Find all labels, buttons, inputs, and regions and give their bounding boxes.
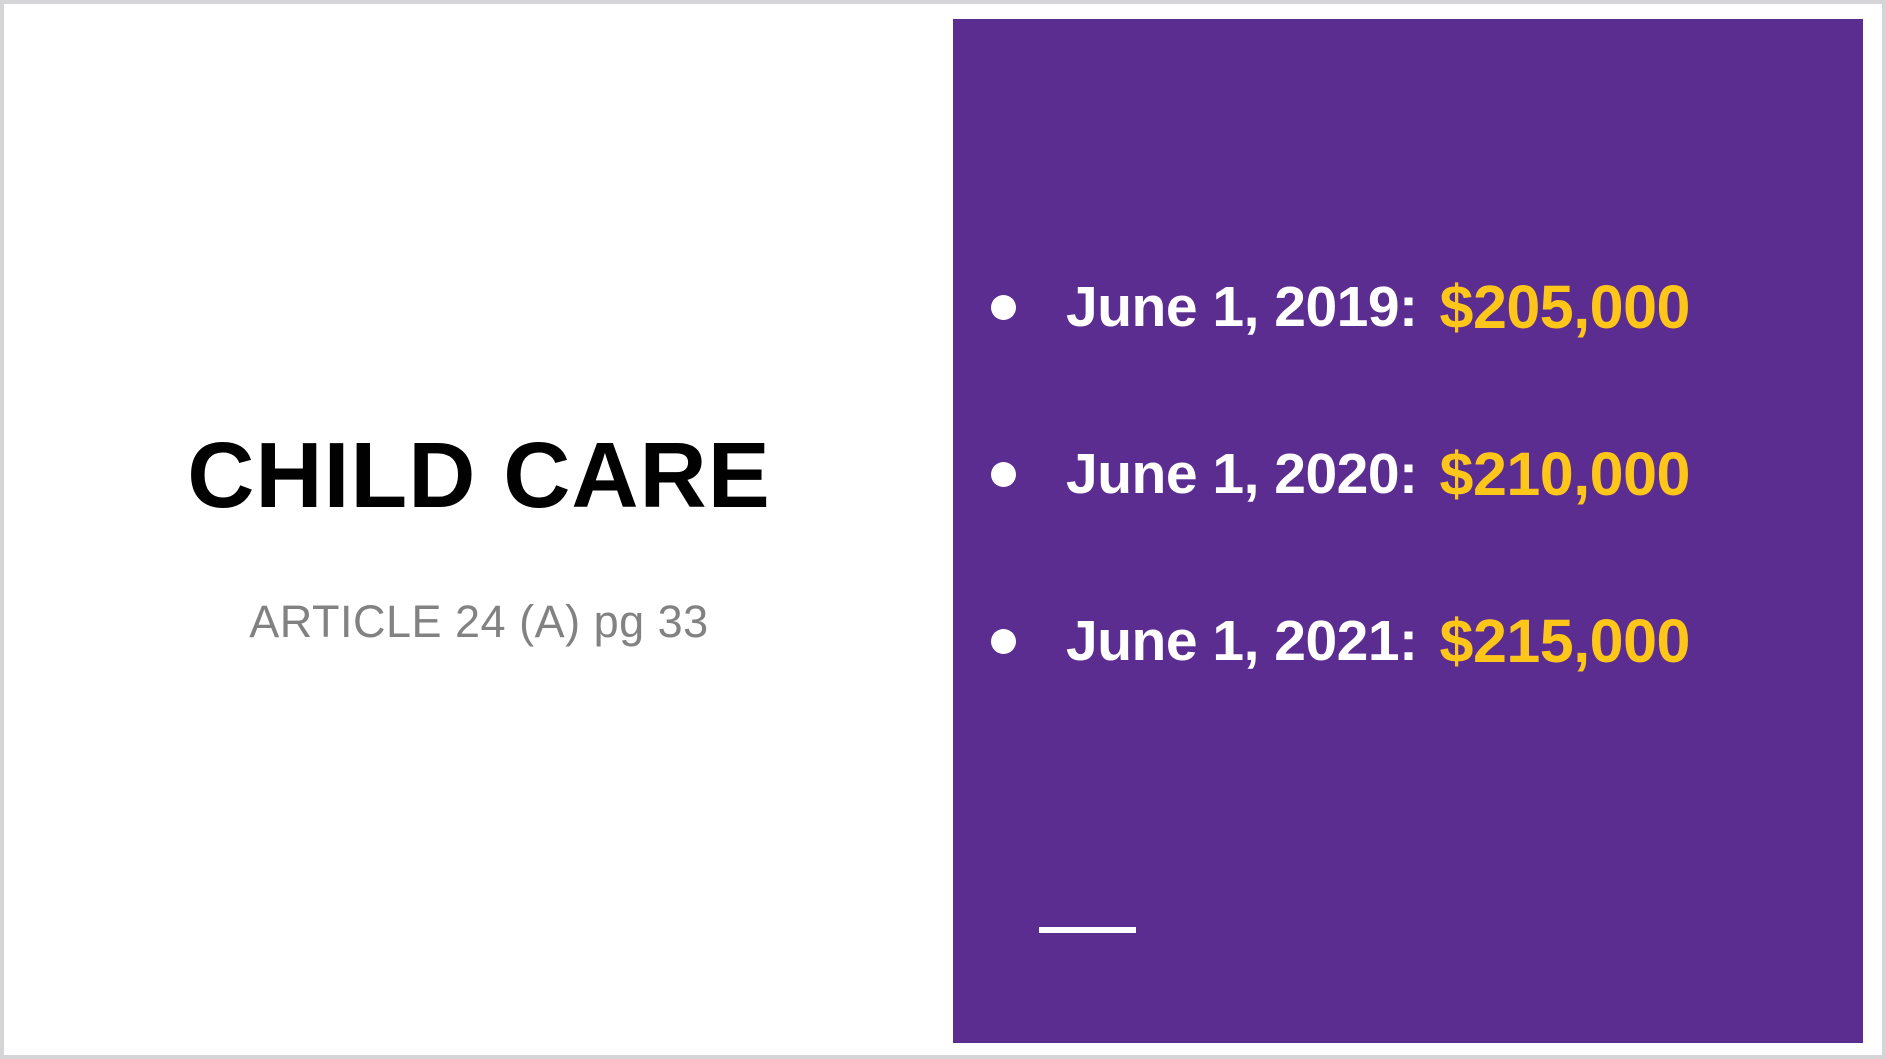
page-title: CHILD CARE: [4, 428, 954, 523]
bullet-dot-icon: [991, 629, 1016, 654]
bullet-date-label: June 1, 2020:: [1066, 446, 1418, 503]
bullet-amount-value: $210,000: [1440, 444, 1690, 505]
list-item: June 1, 2021: $215,000: [991, 558, 1851, 725]
slide-subtitle: ARTICLE 24 (A) pg 33: [4, 596, 954, 648]
list-item: June 1, 2020: $210,000: [991, 391, 1851, 558]
slide-right-panel: June 1, 2019: $205,000 June 1, 2020: $21…: [953, 19, 1863, 1043]
bullet-date-label: June 1, 2021:: [1066, 613, 1418, 670]
panel-divider-rule: [1039, 927, 1136, 933]
bullet-amount-value: $215,000: [1440, 611, 1690, 672]
bullet-amount-value: $205,000: [1440, 277, 1690, 338]
rate-bullet-list: June 1, 2019: $205,000 June 1, 2020: $21…: [991, 224, 1851, 725]
bullet-date-label: June 1, 2019:: [1066, 279, 1418, 336]
slide-left-column: CHILD CARE ARTICLE 24 (A) pg 33: [4, 4, 954, 1055]
bullet-dot-icon: [991, 462, 1016, 487]
bullet-dot-icon: [991, 295, 1016, 320]
presentation-slide: CHILD CARE ARTICLE 24 (A) pg 33 June 1, …: [0, 0, 1886, 1059]
list-item: June 1, 2019: $205,000: [991, 224, 1851, 391]
